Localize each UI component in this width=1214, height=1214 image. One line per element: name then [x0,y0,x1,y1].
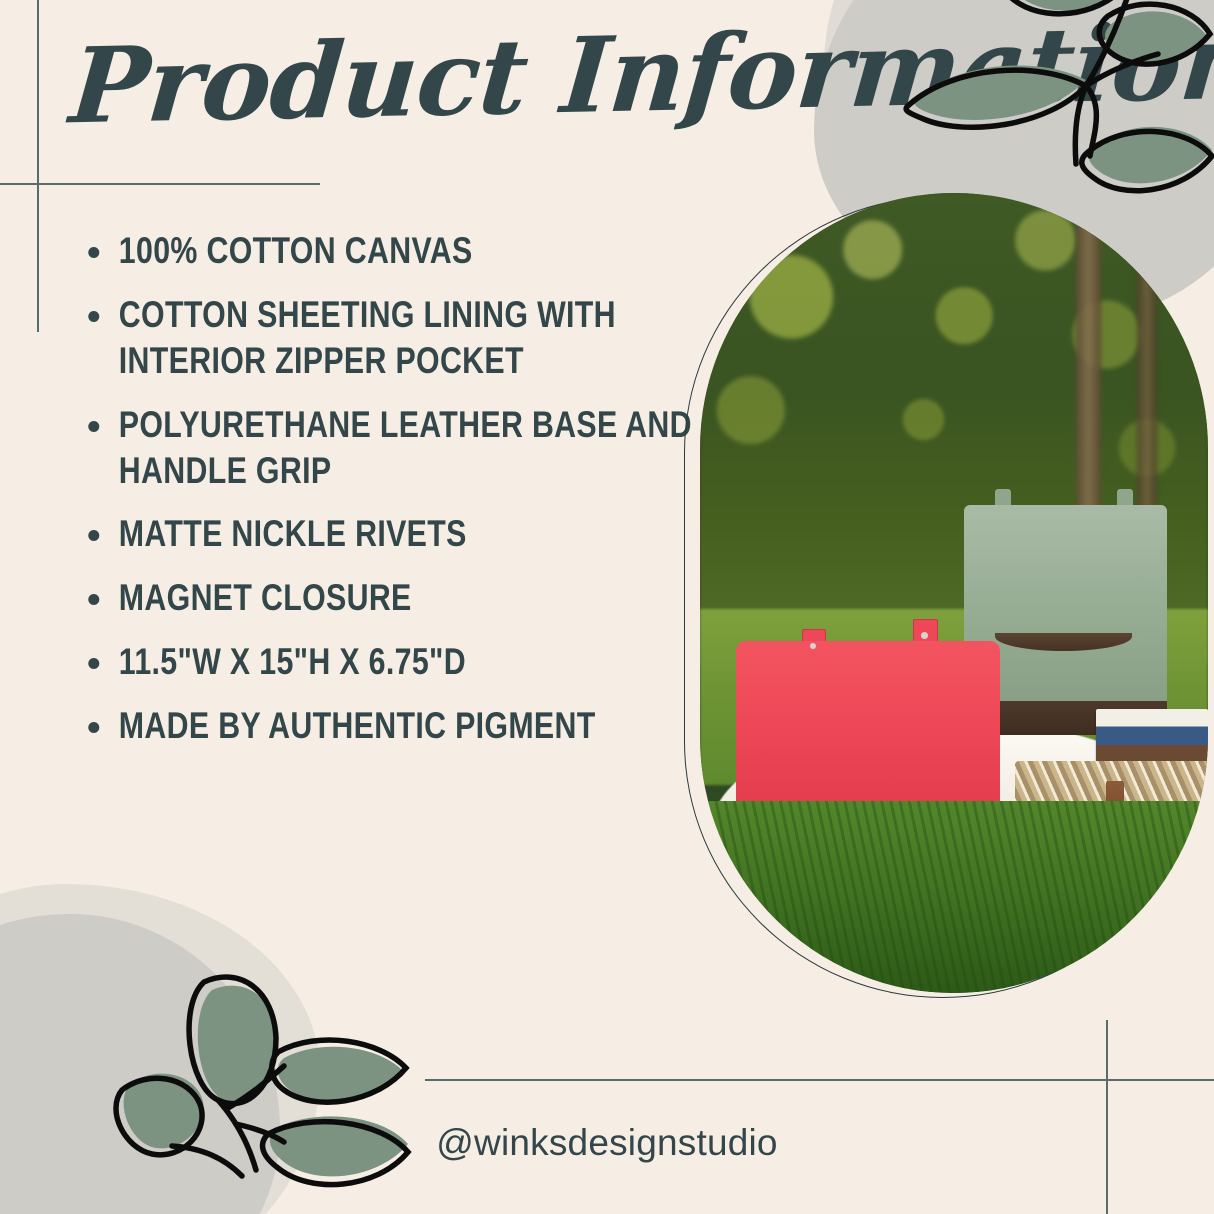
list-item: MATTE NICKLE RIVETS [86,511,721,557]
list-item-label: MADE BY AUTHENTIC PIGMENT [119,705,596,746]
rule-top-left-vertical [37,0,39,332]
list-item: 11.5"W X 15"H X 6.75"D [86,639,721,685]
list-item: 100% COTTON CANVAS [86,228,721,274]
background-blob-bottom-left-soft [0,884,320,1214]
product-spec-list: 100% COTTON CANVAS COTTON SHEETING LININ… [86,228,698,767]
list-item-label: 11.5"W X 15"H X 6.75"D [119,641,466,682]
list-item: COTTON SHEETING LINING WITH INTERIOR ZIP… [86,292,721,384]
page-title: Product Information [66,6,1214,143]
bullet-dot-icon [88,247,99,258]
list-item-label: POLYURETHANE LEATHER BASE AND HANDLE GRI… [119,404,692,491]
list-item-label: MATTE NICKLE RIVETS [119,513,467,554]
botanical-leaves-bottom-left-icon [108,932,448,1214]
list-item: MADE BY AUTHENTIC PIGMENT [86,703,721,749]
photo-stacked-books [1096,709,1208,767]
bullet-dot-icon [88,594,99,605]
rule-top-left-horizontal [0,183,320,185]
list-item: MAGNET CLOSURE [86,575,721,621]
product-information-card: Product Information 100% COTTON CANVAS C… [0,0,1214,1214]
photo-grass-foreground [700,801,1208,993]
bullet-dot-icon [88,311,99,322]
bullet-dot-icon [88,722,99,733]
bullet-dot-icon [88,530,99,541]
bullet-dot-icon [88,421,99,432]
list-item-label: MAGNET CLOSURE [119,577,412,618]
product-photo-scene [700,193,1208,993]
rule-bottom-right-horizontal [425,1079,1214,1081]
list-item: POLYURETHANE LEATHER BASE AND HANDLE GRI… [86,402,721,494]
list-item-label: 100% COTTON CANVAS [119,230,473,271]
bullet-dot-icon [88,658,99,669]
list-item-label: COTTON SHEETING LINING WITH INTERIOR ZIP… [119,294,616,381]
photo-red-tote-rivet [921,632,928,639]
rule-bottom-right-vertical [1106,1020,1108,1214]
instagram-handle: @winksdesignstudio [0,1122,1214,1164]
product-photo [700,193,1208,993]
background-blob-bottom-left [0,914,280,1214]
photo-red-tote-bag [736,641,1000,821]
